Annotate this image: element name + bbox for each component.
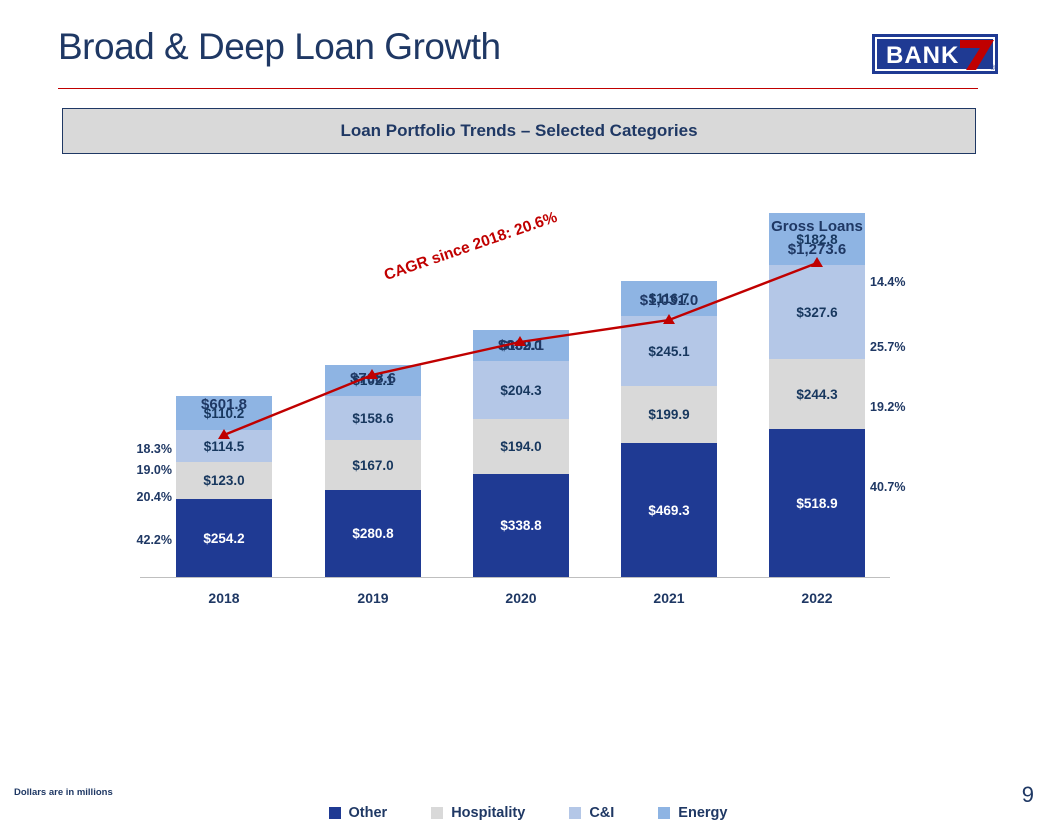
bar-segment-ci-2019: $158.6 — [325, 396, 421, 440]
section-banner-label: Loan Portfolio Trends – Selected Categor… — [340, 121, 697, 141]
bar-stack-2019: $102.1 $158.6 $167.0 $280.8 — [325, 365, 421, 577]
bar-stack-2018: $110.2 $114.5 $123.0 $254.2 — [176, 396, 272, 577]
bar-segment-ci-2020: $204.3 — [473, 361, 569, 419]
gross-loans-title: Gross Loans — [717, 218, 917, 235]
mix-percent-2022-ci: 25.7% — [870, 340, 922, 354]
bar-segment-other-2018: $254.2 — [176, 499, 272, 577]
category-label-2022: 2022 — [757, 590, 877, 606]
bar-segment-ci-2021: $245.1 — [621, 316, 717, 386]
total-label-2020: $839.1 — [441, 337, 601, 354]
legend-swatch-hospitality-icon — [431, 807, 443, 819]
legend-swatch-ci-icon — [569, 807, 581, 819]
bar-stack-2020: $102.0 $204.3 $194.0 $338.8 — [473, 330, 569, 577]
category-label-2018: 2018 — [164, 590, 284, 606]
bar-segment-other-2022: $518.9 — [769, 429, 865, 577]
page-number: 9 — [1022, 782, 1034, 808]
legend-label-other: Other — [349, 805, 388, 821]
legend-swatch-other-icon — [329, 807, 341, 819]
mix-percent-2022-other: 40.7% — [870, 480, 922, 494]
svg-text:®: ® — [990, 64, 996, 72]
legend-label-hospitality: Hospitality — [451, 805, 525, 821]
bar-segment-other-2021: $469.3 — [621, 443, 717, 577]
bar-segment-ci-2022: $327.6 — [769, 265, 865, 359]
bank7-logo: BANK ® — [872, 32, 998, 78]
mix-percent-2022-energy: 14.4% — [870, 275, 922, 289]
mix-percent-2018-energy: 18.3% — [124, 442, 172, 456]
bar-segment-hospitality-2022: $244.3 — [769, 359, 865, 429]
bank7-logo-mark: BANK ® — [872, 32, 998, 78]
legend-item-ci: C&I — [569, 805, 614, 821]
total-label-2018: $601.8 — [144, 396, 304, 413]
mix-percent-2018-other: 42.2% — [124, 533, 172, 547]
mix-percent-2022-hospitality: 19.2% — [870, 400, 922, 414]
bar-segment-hospitality-2020: $194.0 — [473, 419, 569, 474]
title-divider — [58, 88, 978, 89]
bar-segment-hospitality-2021: $199.9 — [621, 386, 717, 443]
legend-item-other: Other — [329, 805, 388, 821]
stacked-bar-chart: $110.2 $114.5 $123.0 $254.2 $601.8 2018 … — [0, 180, 1056, 660]
category-label-2021: 2021 — [609, 590, 729, 606]
category-label-2019: 2019 — [313, 590, 433, 606]
category-label-2020: 2020 — [461, 590, 581, 606]
legend-label-ci: C&I — [589, 805, 614, 821]
mix-percent-2018-hospitality: 20.4% — [124, 490, 172, 504]
bar-segment-other-2019: $280.8 — [325, 490, 421, 577]
mix-percent-2018-ci: 19.0% — [124, 463, 172, 477]
bar-stack-2021: $116.7 $245.1 $199.9 $469.3 — [621, 281, 717, 577]
legend-label-energy: Energy — [678, 805, 727, 821]
section-banner: Loan Portfolio Trends – Selected Categor… — [62, 108, 976, 154]
total-label-2019: $708.6 — [293, 370, 453, 387]
bar-segment-ci-2018: $114.5 — [176, 430, 272, 462]
total-label-2022: $1,273.6 — [737, 241, 897, 258]
total-label-2021: $1,031.0 — [589, 292, 749, 309]
legend-item-energy: Energy — [658, 805, 727, 821]
x-axis-line — [140, 577, 890, 578]
svg-text:BANK: BANK — [886, 42, 959, 69]
footnote: Dollars are in millions — [14, 787, 113, 798]
cagr-annotation: CAGR since 2018: 20.6% — [382, 209, 560, 285]
legend-swatch-energy-icon — [658, 807, 670, 819]
legend-item-hospitality: Hospitality — [431, 805, 525, 821]
bar-stack-2022: $182.8 $327.6 $244.3 $518.9 — [769, 213, 865, 577]
bar-segment-hospitality-2019: $167.0 — [325, 440, 421, 490]
bar-segment-other-2020: $338.8 — [473, 474, 569, 577]
bar-segment-hospitality-2018: $123.0 — [176, 462, 272, 499]
chart-legend: Other Hospitality C&I Energy — [0, 805, 1056, 821]
page-title: Broad & Deep Loan Growth — [58, 26, 501, 68]
